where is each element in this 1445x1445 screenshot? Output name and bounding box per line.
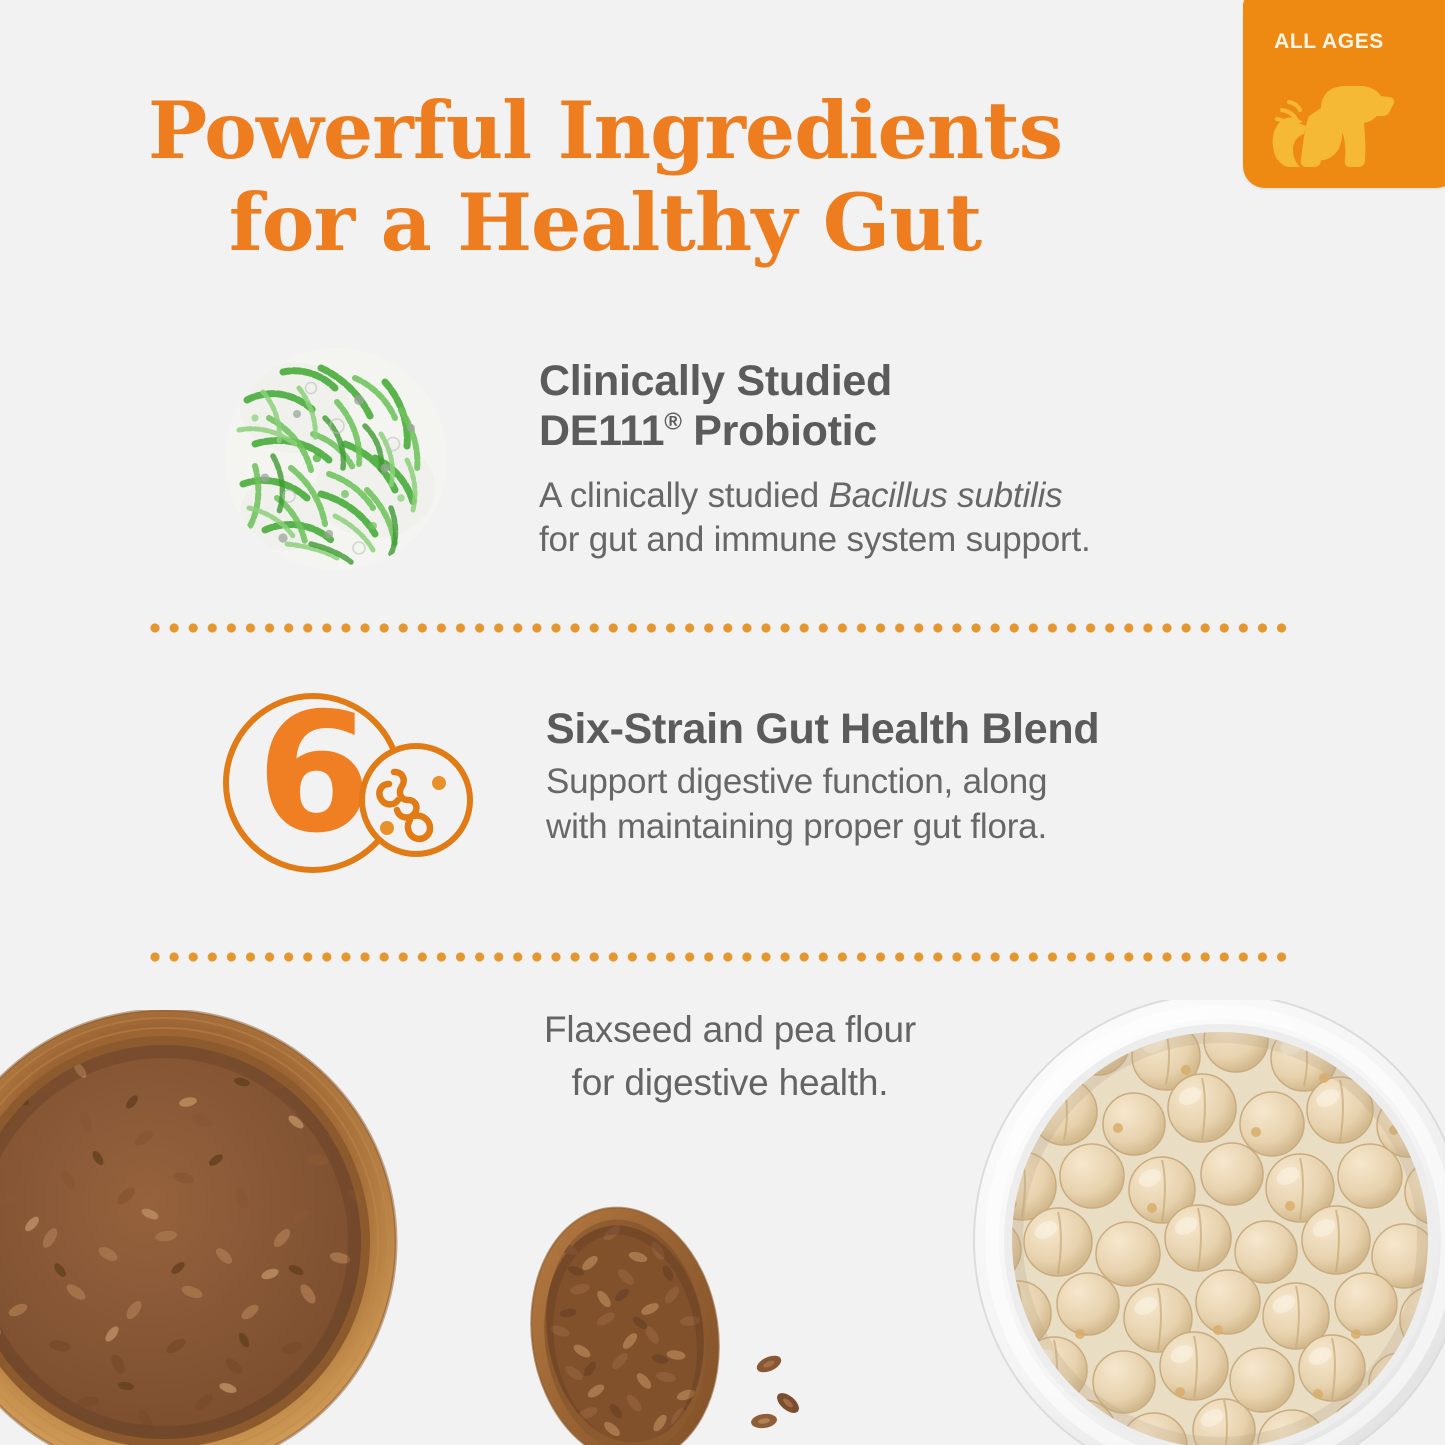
dotted-line bbox=[150, 622, 1296, 634]
six-strain-blend-icon: 6 bbox=[218, 688, 476, 878]
spilled-seeds bbox=[750, 1352, 802, 1429]
probiotic-text: Probiotic bbox=[682, 407, 877, 455]
page-title-line-2: for a Healthy Gut bbox=[0, 177, 1210, 269]
feature-text-blend: Six-Strain Gut Health Blend Support dige… bbox=[546, 704, 1099, 850]
feature-body-line-1: Support digestive function, along bbox=[546, 760, 1099, 805]
flaxseed-wooden-spoon-photo bbox=[520, 1163, 850, 1445]
svg-text:6: 6 bbox=[257, 688, 372, 869]
dotted-divider-1 bbox=[150, 622, 1296, 634]
flaxseed-wooden-bowl-photo bbox=[0, 1010, 442, 1445]
sitting-dog-icon bbox=[1265, 64, 1405, 172]
feature-row-blend: 6 Six-Strain Gut Health Blend Support di… bbox=[218, 688, 1099, 878]
feature-heading-probiotic: Clinically Studied DE111® Probiotic bbox=[539, 356, 1091, 457]
dotted-line bbox=[150, 951, 1296, 963]
species-name-italic: Bacillus subtilis bbox=[829, 476, 1063, 515]
feature-heading-blend: Six-Strain Gut Health Blend bbox=[546, 704, 1099, 754]
feature-heading-line-1: Clinically Studied bbox=[539, 356, 1091, 406]
feature-row-probiotic: Clinically Studied DE111® Probiotic A cl… bbox=[225, 348, 1091, 570]
feature-text-probiotic: Clinically Studied DE111® Probiotic A cl… bbox=[539, 356, 1091, 563]
de111-text: DE111 bbox=[539, 407, 664, 455]
page-title-line-1: Powerful Ingredients bbox=[148, 84, 1062, 177]
microscope-bacteria-circle-icon bbox=[225, 348, 447, 570]
feature-body-line-2: for gut and immune system support. bbox=[539, 518, 1091, 563]
feature-body-line-1: A clinically studied Bacillus subtilis bbox=[539, 474, 1091, 519]
feature-heading-line-2: DE111® Probiotic bbox=[539, 406, 1091, 456]
registered-mark: ® bbox=[664, 409, 681, 436]
feature-body-blend: Support digestive function, along with m… bbox=[546, 760, 1099, 850]
dotted-divider-2 bbox=[150, 951, 1296, 963]
page-title: Powerful Ingredients for a Healthy Gut bbox=[0, 85, 1210, 270]
feature-body-probiotic: A clinically studied Bacillus subtilis f… bbox=[539, 474, 1091, 564]
body-text-pre: A clinically studied bbox=[539, 476, 829, 515]
all-ages-badge-label: ALL AGES bbox=[1243, 30, 1415, 54]
chickpea-white-bowl-photo bbox=[952, 1000, 1445, 1445]
feature-body-line-2: with maintaining proper gut flora. bbox=[546, 805, 1099, 850]
all-ages-badge: ALL AGES bbox=[1243, 0, 1445, 188]
infographic-canvas: Powerful Ingredients for a Healthy Gut A… bbox=[0, 0, 1445, 1445]
